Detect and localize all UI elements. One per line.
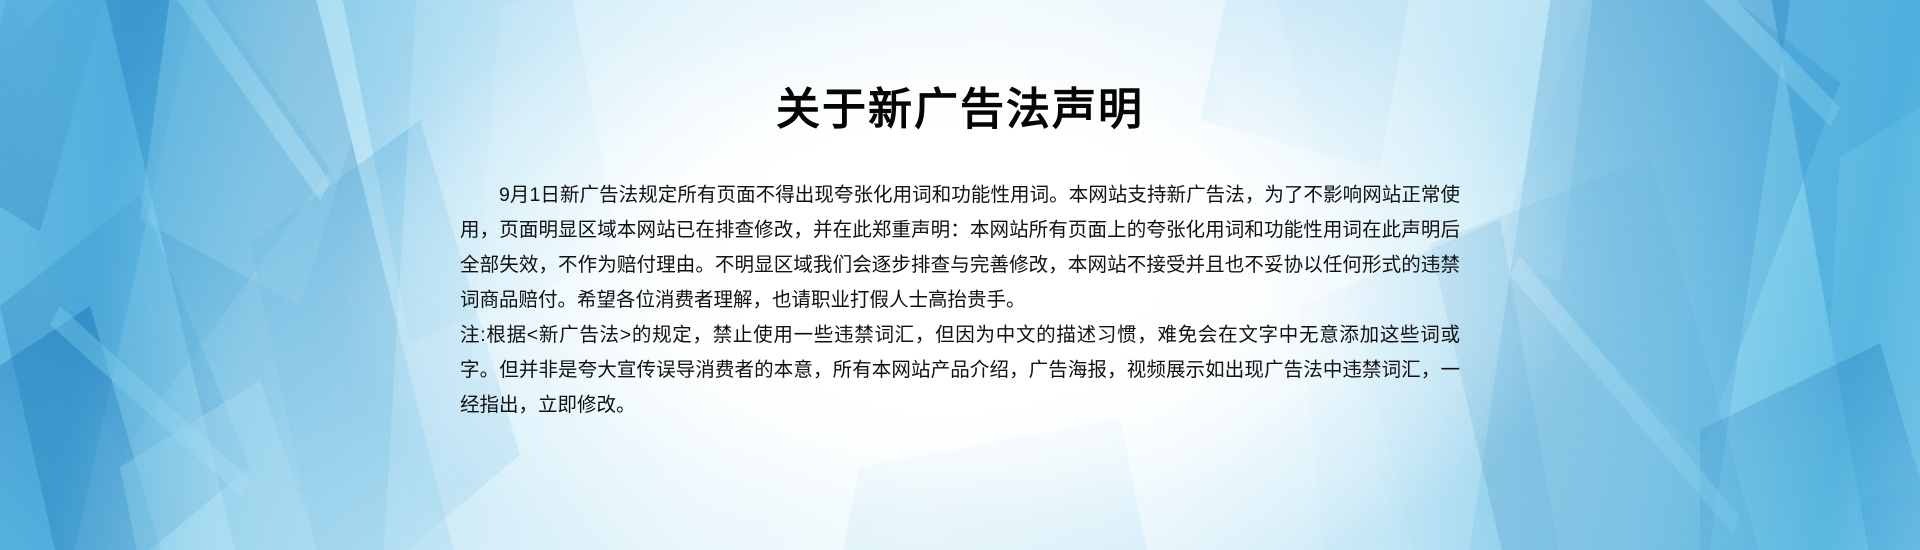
statement-content: 关于新广告法声明 9月1日新广告法规定所有页面不得出现夸张化用词和功能性用词。本… xyxy=(0,0,1920,550)
statement-body: 9月1日新广告法规定所有页面不得出现夸张化用词和功能性用词。本网站支持新广告法，… xyxy=(460,178,1460,423)
page-title: 关于新广告法声明 xyxy=(0,86,1920,134)
statement-paragraph-note: 注:根据<新广告法>的规定，禁止使用一些违禁词汇，但因为中文的描述习惯，难免会在… xyxy=(460,318,1460,423)
statement-paragraph-main: 9月1日新广告法规定所有页面不得出现夸张化用词和功能性用词。本网站支持新广告法，… xyxy=(460,178,1460,318)
advertising-law-statement-banner: 关于新广告法声明 9月1日新广告法规定所有页面不得出现夸张化用词和功能性用词。本… xyxy=(0,0,1920,550)
